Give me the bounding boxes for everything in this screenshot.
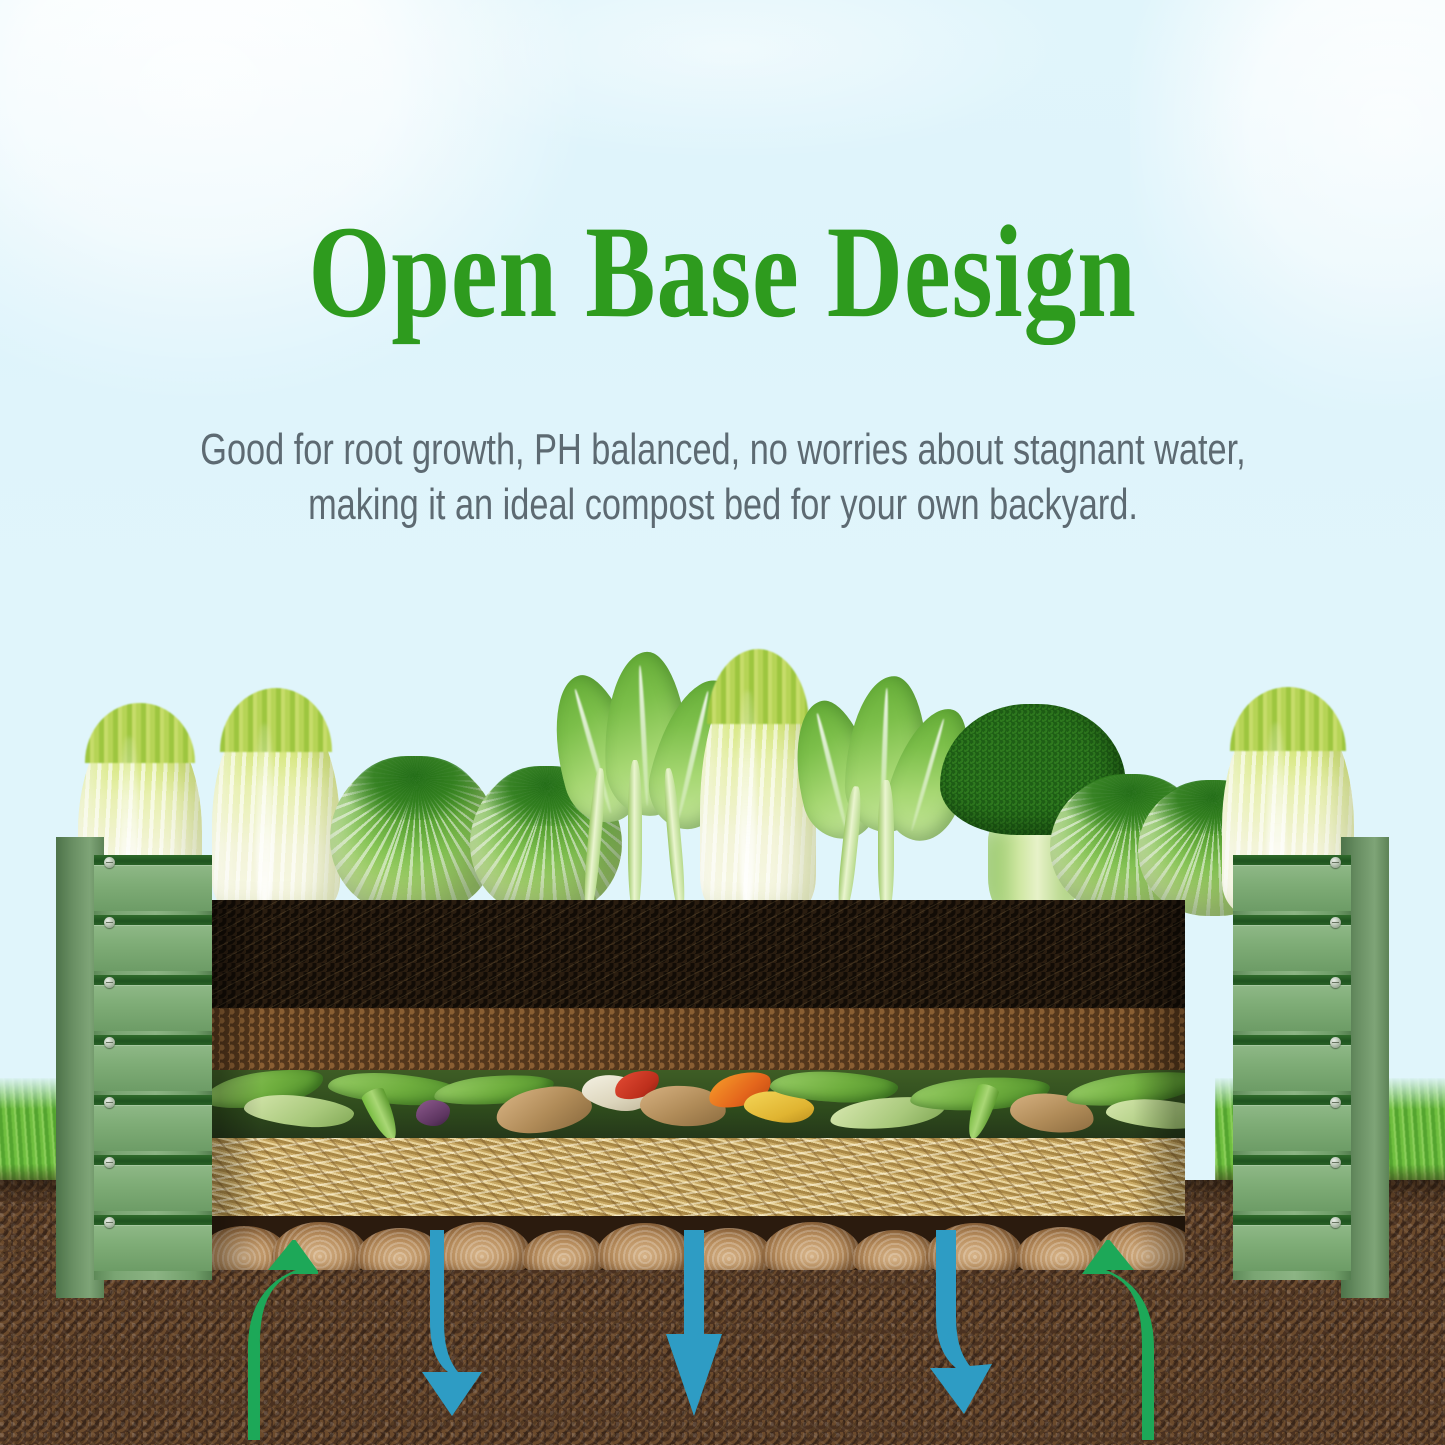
chard-stem (628, 760, 642, 912)
post-slat (94, 915, 212, 971)
post-slat (94, 975, 212, 1031)
airflow-arrow-down-1 (408, 1230, 490, 1420)
subtitle-line-1: Good for root growth, PH balanced, no wo… (200, 425, 1245, 474)
post-slat (94, 1155, 212, 1211)
slat-panel (94, 865, 212, 911)
slat-panel (94, 1165, 212, 1211)
post-slat (1233, 915, 1351, 971)
scrap-vegetable (243, 1090, 356, 1131)
product-scene (0, 600, 1445, 1445)
screw-icon (104, 1157, 115, 1168)
slat-panel (1233, 865, 1351, 911)
screw-icon (1330, 917, 1341, 928)
slat-panel (94, 1225, 212, 1271)
post-slat (94, 1215, 212, 1271)
screw-icon (1330, 977, 1341, 988)
post-slat (1233, 1155, 1351, 1211)
airflow-arrow-down-3 (918, 1230, 1002, 1420)
screw-icon (1330, 1217, 1341, 1228)
plant-napa-cabbage-2 (212, 703, 340, 915)
log-round (762, 1222, 862, 1270)
screw-icon (104, 1217, 115, 1228)
post-front-panel (1233, 855, 1351, 1280)
slat-panel (1233, 1165, 1351, 1211)
screw-icon (1330, 1157, 1341, 1168)
bok-choy-stem (878, 780, 894, 914)
log-round (522, 1230, 606, 1270)
post-slat (1233, 1215, 1351, 1271)
screw-icon (104, 1097, 115, 1108)
post-slat (1233, 855, 1351, 911)
slat-panel (1233, 1105, 1351, 1151)
post-slat (94, 1095, 212, 1151)
slat-panel (1233, 925, 1351, 971)
frame-post-left[interactable] (56, 855, 222, 1280)
infographic-canvas: Open Base Design Good for root growth, P… (0, 0, 1445, 1445)
post-front-panel (94, 855, 212, 1280)
post-slat (1233, 1035, 1351, 1091)
page-title: Open Base Design (145, 206, 1301, 338)
screw-icon (1330, 857, 1341, 868)
slat-panel (94, 985, 212, 1031)
napa-cabbage-body (212, 703, 340, 915)
slat-panel (94, 925, 212, 971)
airflow-arrow-up-2 (1082, 1240, 1168, 1440)
post-slat (94, 1035, 212, 1091)
airflow-arrow-up-1 (232, 1240, 318, 1440)
subtitle-line-2: making it an ideal compost bed for your … (308, 480, 1138, 529)
slat-panel (1233, 1225, 1351, 1271)
slat-panel (94, 1105, 212, 1151)
slat-panel (1233, 1045, 1351, 1091)
screw-icon (104, 1037, 115, 1048)
screw-icon (104, 917, 115, 928)
post-slat (1233, 975, 1351, 1031)
slat-panel (94, 1045, 212, 1091)
post-slat (94, 855, 212, 911)
layer-straw (210, 1138, 1185, 1216)
slat-panel (1233, 985, 1351, 1031)
frame-post-right[interactable] (1223, 855, 1389, 1280)
airflow-arrow-down-2 (660, 1230, 732, 1420)
layer-kitchen-scraps (210, 1070, 1185, 1138)
post-slat (1233, 1095, 1351, 1151)
page-subtitle: Good for root growth, PH balanced, no wo… (60, 422, 1386, 533)
layer-topsoil (210, 900, 1185, 1008)
screw-icon (104, 977, 115, 988)
screw-icon (104, 857, 115, 868)
raised-bed-cross-section (210, 900, 1185, 1270)
layer-compost-mulch (210, 1008, 1185, 1070)
screw-icon (1330, 1037, 1341, 1048)
scrap-onion (416, 1100, 450, 1126)
screw-icon (1330, 1097, 1341, 1108)
